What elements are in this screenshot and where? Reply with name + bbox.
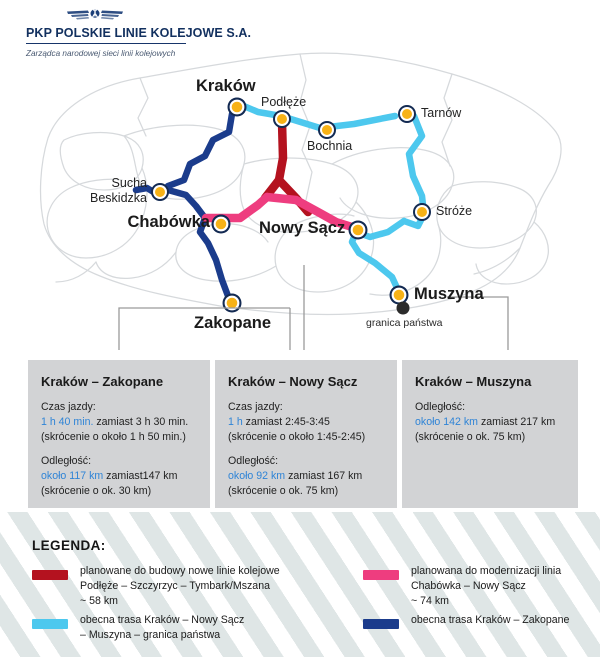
map-label-muszyna: Muszyna [414,286,484,304]
legend-text-line2: Chabówka – Nowy Sącz [411,579,526,594]
block-note: (skrócenie o około 1 h 50 min.) [41,430,197,445]
map-label-podleze: Podłęże [261,96,306,110]
header: PKP POLSKIE LINIE KOLEJOWE S.A. Zarządca… [0,0,600,62]
station-marker-muszyna [390,286,409,305]
legend-swatch-current-navy [363,619,399,629]
card-krakow-muszyna: Kraków – Muszyna Odległość: około 142 km… [402,360,578,508]
summary-cards: Kraków – Zakopane Czas jazdy: 1 h 40 min… [0,352,600,512]
map-label-zakopane: Zakopane [194,315,271,333]
card-title: Kraków – Nowy Sącz [228,374,384,389]
logo: PKP POLSKIE LINIE KOLEJOWE S.A. Zarządca… [26,6,251,58]
value-rest: zamiast 2:45-3:45 [243,416,330,428]
legend: LEGENDA: planowane do budowy nowe linie … [0,512,600,657]
value-highlight: 1 h [228,416,243,428]
card-block-distance: Odległość: około 142 km zamiast 217 km (… [415,400,565,445]
legend-swatch-current-cyan [32,619,68,629]
value-highlight: około 142 km [415,416,478,428]
card-title: Kraków – Zakopane [41,374,197,389]
legend-swatch-modernize-pink [363,570,399,580]
block-value: około 117 km zamiast147 km [41,469,197,484]
block-label: Odległość: [415,400,565,415]
legend-text-line3: ~ 74 km [411,594,449,609]
block-label: Odległość: [41,454,197,469]
legend-text-line1: planowana do modernizacji linia [411,564,561,579]
company-tagline: Zarządca narodowej sieci linii kolejowyc… [26,49,251,58]
station-marker-zakopane [223,294,242,313]
map-label-bochnia: Bochnia [307,140,352,154]
block-note: (skrócenie o ok. 75 km) [228,484,384,499]
map: Kraków Podłęże Bochnia Tarnów Sucha Besk… [0,40,600,340]
card-block-time: Czas jazdy: 1 h zamiast 2:45-3:45 (skróc… [228,400,384,445]
block-label: Czas jazdy: [228,400,384,415]
station-marker-bochnia [318,121,336,139]
map-label-tarnow: Tarnów [421,107,461,121]
station-marker-krakow [228,98,247,117]
card-block-distance: Odległość: około 117 km zamiast147 km (s… [41,454,197,499]
value-rest: zamiast147 km [103,470,177,482]
legend-text-line1: planowane do budowy nowe linie kolejowe [80,564,280,579]
card-title: Kraków – Muszyna [415,374,565,389]
station-marker-tarnow [398,105,416,123]
card-block-time: Czas jazdy: 1 h 40 min. zamiast 3 h 30 m… [41,400,197,445]
block-label: Odległość: [228,454,384,469]
station-marker-chabowka [212,215,231,234]
border-crossing-dot-icon [397,302,410,315]
map-label-nowy-sacz: Nowy Sącz [259,220,345,238]
legend-text-line2: Podłęże – Szczyrzyc – Tymbark/Mszana [80,579,270,594]
value-rest: zamiast 217 km [478,416,555,428]
value-rest: zamiast 167 km [285,470,362,482]
company-name: PKP POLSKIE LINIE KOLEJOWE S.A. [26,26,251,40]
block-value: około 142 km zamiast 217 km [415,415,565,430]
map-label-chabowka: Chabówka [100,214,210,232]
legend-title: LEGENDA: [32,538,106,553]
logo-divider [26,43,186,44]
legend-text-line1: obecna trasa Kraków – Zakopane [411,613,569,628]
block-value: około 92 km zamiast 167 km [228,469,384,484]
block-label: Czas jazdy: [41,400,197,415]
card-block-distance: Odległość: około 92 km zamiast 167 km (s… [228,454,384,499]
block-note: (skrócenie o ok. 30 km) [41,484,197,499]
station-marker-podleze [273,110,291,128]
station-marker-sucha-beskidzka [151,183,169,201]
value-highlight: około 117 km [41,470,103,482]
block-note: (skrócenie o około 1:45-2:45) [228,430,384,445]
route-current-navy [136,114,232,296]
map-label-stroze: Stróże [436,205,472,219]
legend-text-line3: ~ 58 km [80,594,118,609]
card-krakow-nowy-sacz: Kraków – Nowy Sącz Czas jazdy: 1 h zamia… [215,360,397,508]
pkp-winged-wheel-logo-icon [66,6,124,22]
map-label-sucha-line2: Beskidzka [42,192,147,206]
value-highlight: 1 h 40 min. [41,416,93,428]
legend-text-line2: – Muszyna – granica państwa [80,628,220,643]
legend-swatch-new-red [32,570,68,580]
station-marker-nowy-sacz [349,221,368,240]
value-rest: zamiast 3 h 30 min. [93,416,188,428]
block-note: (skrócenie o ok. 75 km) [415,430,565,445]
block-value: 1 h 40 min. zamiast 3 h 30 min. [41,415,197,430]
value-highlight: około 92 km [228,470,285,482]
connector-muszyna [447,297,508,350]
card-connectors [119,265,508,350]
map-label-sucha-line1: Sucha [52,177,147,191]
infographic-root: PKP POLSKIE LINIE KOLEJOWE S.A. Zarządca… [0,0,600,657]
map-label-border: granica państwa [366,318,442,329]
legend-text-line1: obecna trasa Kraków – Nowy Sącz [80,613,244,628]
block-value: 1 h zamiast 2:45-3:45 [228,415,384,430]
map-label-krakow: Kraków [196,78,256,96]
station-marker-stroze [413,203,431,221]
card-krakow-zakopane: Kraków – Zakopane Czas jazdy: 1 h 40 min… [28,360,210,508]
